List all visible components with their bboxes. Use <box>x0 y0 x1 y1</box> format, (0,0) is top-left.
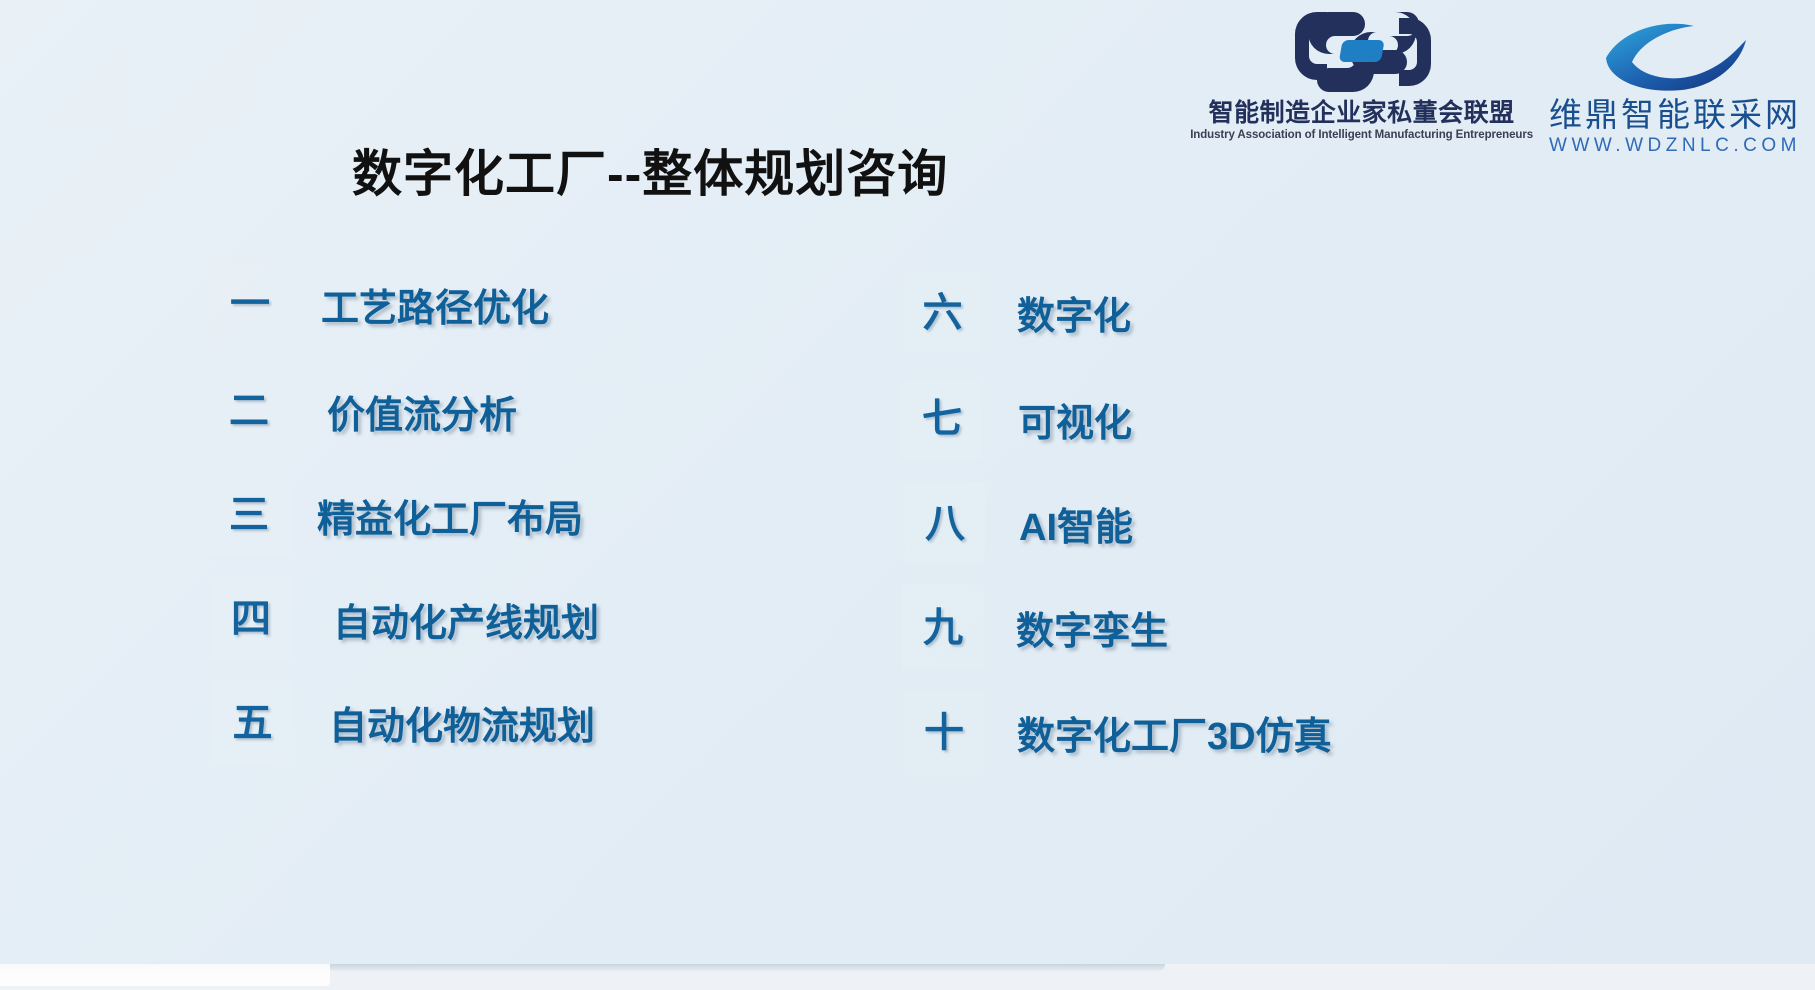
list-item[interactable]: 七 可视化 <box>902 378 1332 460</box>
item-label: 价值流分析 <box>327 384 517 439</box>
item-label: 可视化 <box>1018 392 1132 447</box>
items-column-right: 六 数字化 七 可视化 八 AI智能 九 数字孪生 十 数字化 <box>900 272 1332 775</box>
item-number-box: 五 <box>211 680 294 765</box>
list-item[interactable]: 一 工艺路径优化 <box>208 262 599 346</box>
item-number: 五 <box>233 703 273 743</box>
item-label: 精益化工厂布局 <box>317 488 583 543</box>
item-number: 十 <box>924 713 964 753</box>
item-number: 八 <box>925 504 965 544</box>
item-label: 数字化 <box>1017 285 1131 340</box>
list-item[interactable]: 五 自动化物流规划 <box>211 680 599 765</box>
item-number: 七 <box>922 399 962 439</box>
list-item[interactable]: 四 自动化产线规划 <box>210 577 599 661</box>
item-number-box: 一 <box>208 262 292 346</box>
item-number-box: 三 <box>208 473 290 557</box>
association-logo: 智能制造企业家私董会联盟 Industry Association of Int… <box>1190 4 1533 141</box>
item-label: 自动化产线规划 <box>333 592 599 647</box>
item-label: 数字孪生 <box>1016 600 1168 655</box>
logo-bar: 智能制造企业家私董会联盟 Industry Association of Int… <box>1190 4 1801 157</box>
list-item[interactable]: 三 精益化工厂布局 <box>208 473 599 557</box>
list-item[interactable]: 六 数字化 <box>903 272 1332 353</box>
page-title: 数字化工厂--整体规划咨询 <box>352 134 948 206</box>
item-number-box: 十 <box>903 690 985 775</box>
list-item[interactable]: 十 数字化工厂3D仿真 <box>903 690 1332 775</box>
item-number: 三 <box>229 495 269 535</box>
portal-url: WWW.WDZNLC.COM <box>1549 135 1801 157</box>
item-number: 二 <box>229 391 269 431</box>
portal-name-cn: 维鼎智能联采网 <box>1549 98 1801 133</box>
list-item[interactable]: 二 价值流分析 <box>208 370 599 452</box>
association-logo-icon <box>1287 4 1437 100</box>
item-number-box: 二 <box>208 370 290 452</box>
item-number-box: 四 <box>210 577 292 661</box>
item-number-box: 六 <box>903 272 982 353</box>
item-label: 数字化工厂3D仿真 <box>1017 705 1332 760</box>
portal-logo: 维鼎智能联采网 WWW.WDZNLC.COM <box>1549 4 1801 157</box>
portal-logo-icon <box>1598 4 1753 98</box>
item-label: 自动化物流规划 <box>329 695 595 750</box>
item-number: 六 <box>923 293 963 333</box>
item-number-box: 九 <box>902 585 984 670</box>
item-number: 四 <box>231 599 271 639</box>
slide-canvas: 智能制造企业家私董会联盟 Industry Association of Int… <box>0 0 1815 964</box>
item-number: 一 <box>230 284 270 324</box>
list-item[interactable]: 九 数字孪生 <box>902 585 1332 670</box>
item-number-box: 八 <box>905 482 985 565</box>
item-number-box: 七 <box>902 378 982 460</box>
item-number: 九 <box>923 608 963 648</box>
list-item[interactable]: 八 AI智能 <box>905 482 1332 565</box>
item-label: AI智能 <box>1019 496 1133 551</box>
item-label: 工艺路径优化 <box>321 277 549 332</box>
items-column-left: 一 工艺路径优化 二 价值流分析 三 精益化工厂布局 四 自动化产线规划 五 <box>208 262 599 765</box>
association-name-cn: 智能制造企业家私董会联盟 <box>1209 100 1515 126</box>
window-bottom-edge <box>0 964 1815 990</box>
association-name-en: Industry Association of Intelligent Manu… <box>1190 129 1533 141</box>
